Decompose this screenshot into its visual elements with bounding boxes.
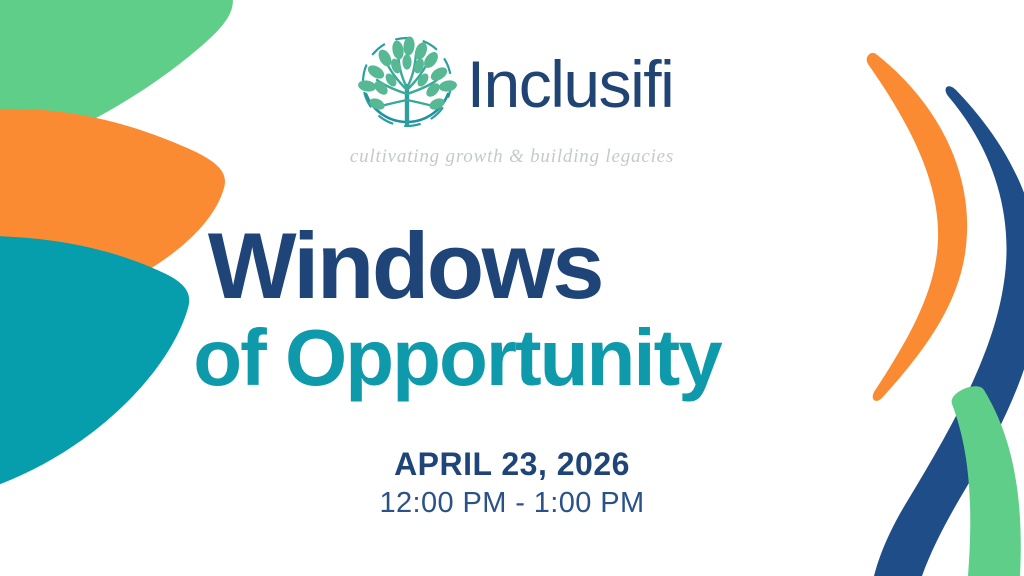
event-title-slide: Inclusifi cultivating growth & building … <box>0 0 1024 576</box>
brand-tagline: cultivating growth & building legacies <box>350 146 674 168</box>
brand-logo-block: Inclusifi cultivating growth & building … <box>0 28 1024 168</box>
logo-row: Inclusifi <box>351 28 674 140</box>
page-title-line-1: Windows <box>0 219 810 313</box>
tree-in-dashed-circle-icon <box>351 28 463 140</box>
event-date: APRIL 23, 2026 <box>0 446 1024 483</box>
page-title-line-2: of Opportunity <box>0 318 1024 398</box>
brand-wordmark: Inclusifi <box>467 51 674 117</box>
event-time: 12:00 PM - 1:00 PM <box>0 487 1024 520</box>
